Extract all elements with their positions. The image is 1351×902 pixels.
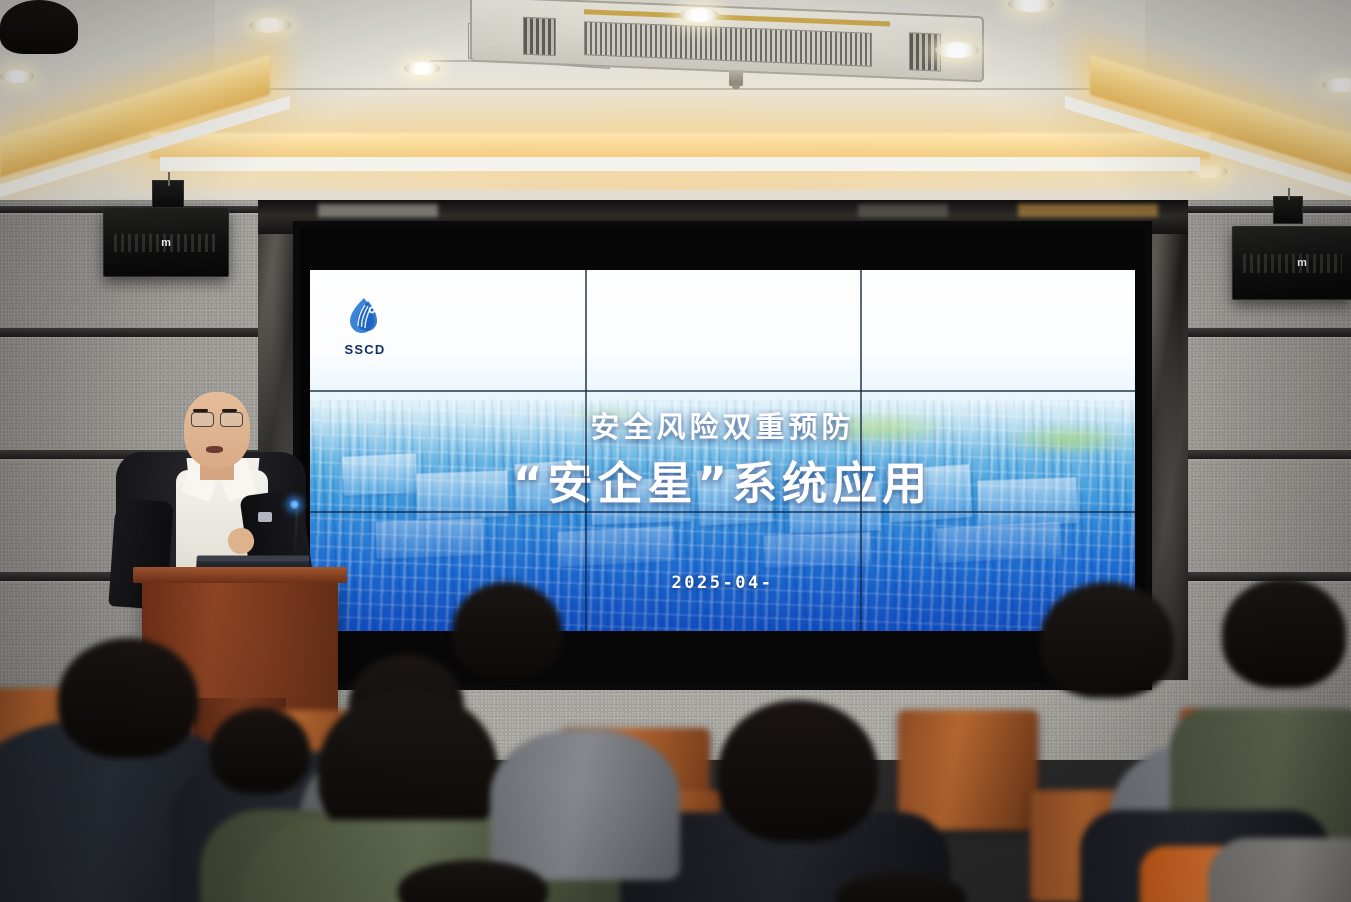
chair (898, 710, 1038, 830)
audience-member-head (210, 708, 310, 794)
videowall-top-bezel (300, 228, 1145, 270)
presenter (0, 0, 78, 54)
speaker-rod-right (1288, 188, 1290, 200)
audience-member-head (58, 638, 198, 758)
speaker-grille (1243, 254, 1343, 273)
audience-member-body (1208, 838, 1351, 902)
panel-seam-horizontal (310, 511, 1135, 513)
panel-seam-horizontal (310, 390, 1135, 392)
sscd-droplet-logo-icon (348, 296, 382, 336)
wall-speaker-left: m (103, 207, 229, 277)
audience-member-head (1040, 582, 1174, 698)
audience-member-body (490, 730, 680, 880)
slide-logo-text: SSCD (336, 342, 394, 357)
slide-logo: SSCD (336, 296, 394, 357)
ceiling (0, 0, 1351, 215)
speaker-rod-left (168, 172, 170, 186)
microphone-led-indicator (290, 500, 299, 509)
presenter-hair (0, 0, 78, 54)
trim-reflection (858, 204, 948, 217)
glasses-lens-left (191, 412, 214, 427)
trim-reflection-warm (1018, 204, 1158, 217)
ceiling-downlight (249, 18, 291, 33)
jacket-brand-logo (258, 512, 272, 522)
presenter-mouth (206, 446, 223, 453)
audience-area (0, 560, 1351, 902)
slide-title-line2: “安企星”系统应用 (310, 447, 1135, 512)
ceiling-downlight (935, 42, 979, 58)
speaker-brand-label: m (161, 237, 171, 249)
audience-member-head (452, 582, 562, 680)
ac-side-vent-left (523, 17, 556, 56)
wall-speaker-right: m (1232, 226, 1351, 300)
presenter-face (184, 392, 250, 468)
glasses-lens-right (220, 412, 243, 427)
conference-room-photo: m m (0, 0, 1351, 902)
slide-sky (310, 270, 1135, 422)
speaker-bracket-right (1273, 196, 1303, 224)
speaker-brand-label: m (1297, 257, 1307, 269)
ceiling-lip-center (160, 157, 1200, 171)
audience-member-head (718, 700, 878, 842)
slide-title-line1: 安全风险双重预防 (310, 404, 1135, 446)
audience-member-head (1222, 578, 1346, 688)
presenter-glasses (191, 412, 243, 425)
ceiling-downlight (679, 8, 719, 22)
trim-reflection (318, 204, 438, 217)
